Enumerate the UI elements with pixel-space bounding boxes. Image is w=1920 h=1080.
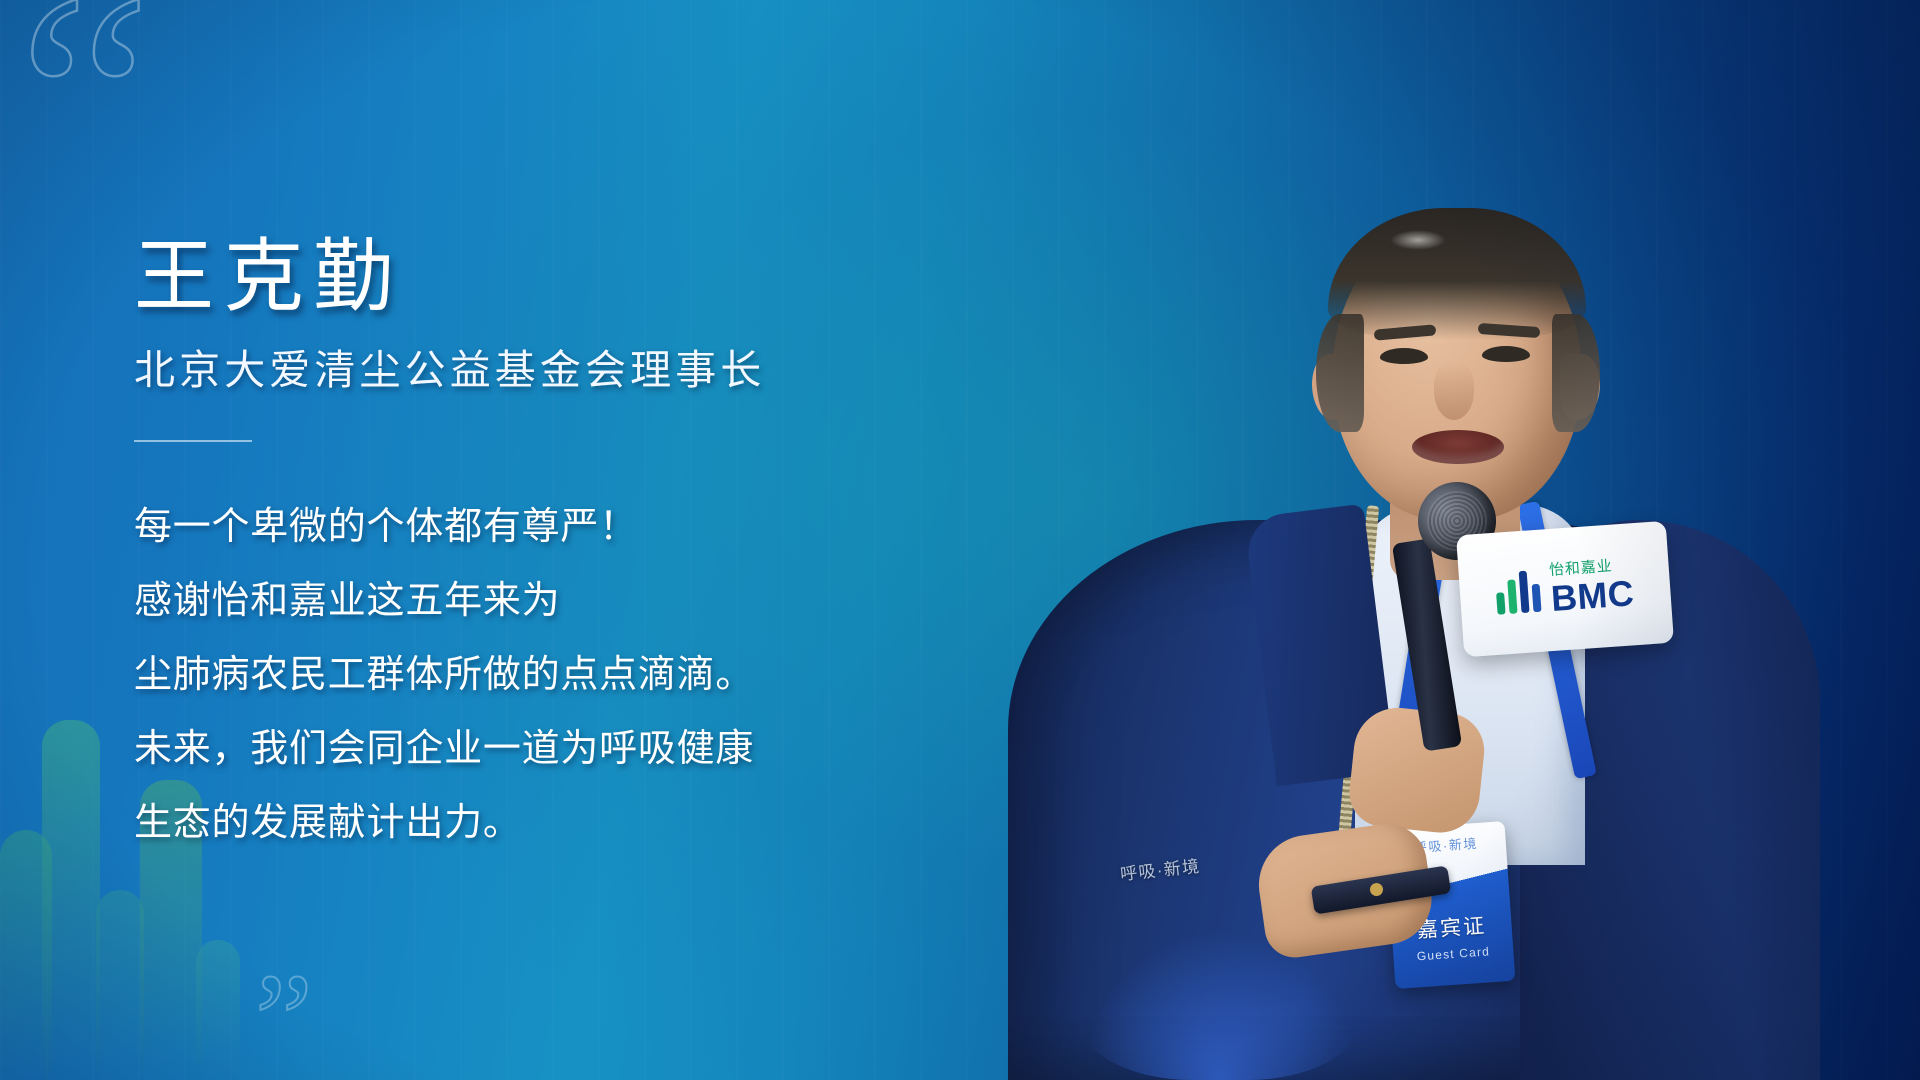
speaker-nose <box>1434 362 1474 420</box>
brand-name-en: BMC <box>1550 575 1635 617</box>
decorative-bar <box>42 720 100 1080</box>
quote-line: 生态的发展献计出力。 <box>134 804 994 842</box>
speaker-hand-mic <box>1346 704 1488 837</box>
bmc-logo-bar <box>1508 579 1518 613</box>
quote-line: 每一个卑微的个体都有尊严！ <box>134 508 994 546</box>
bmc-logo-text: 怡和嘉业 BMC <box>1549 557 1636 617</box>
badge-title-en: Guest Card <box>1416 944 1490 963</box>
speaker-hair <box>1328 208 1586 340</box>
bmc-logo-bar <box>1497 592 1507 615</box>
quote-line: 未来，我们会同企业一道为呼吸健康 <box>134 730 994 768</box>
forehead-highlight <box>1390 230 1446 250</box>
bmc-logo-bars-icon <box>1495 570 1542 615</box>
quote-open-icon: “ <box>18 0 151 248</box>
quote-line: 感谢怡和嘉业这五年来为 <box>134 582 994 620</box>
quote-text: 每一个卑微的个体都有尊严！感谢怡和嘉业这五年来为尘肺病农民工群体所做的点点滴滴。… <box>134 508 994 842</box>
speaker-mouth <box>1412 430 1504 464</box>
quote-line: 尘肺病农民工群体所做的点点滴滴。 <box>134 656 994 694</box>
quote-close-icon: ” <box>255 955 313 1080</box>
title-divider <box>134 440 252 442</box>
speaker-photo: 呼吸·新境 嘉宾证 Guest Card 呼吸·新境 <box>960 0 1920 1080</box>
speaker-eye-left <box>1380 348 1428 364</box>
speaker-eye-right <box>1482 346 1530 362</box>
decorative-bar <box>196 940 240 1080</box>
bmc-logo-bar <box>1519 571 1530 613</box>
quote-card-slide: 呼吸·新境 嘉宾证 Guest Card 呼吸·新境 <box>0 0 1920 1080</box>
speaker-text-block: 王克勤 北京大爱清尘公益基金会理事长 每一个卑微的个体都有尊严！感谢怡和嘉业这五… <box>134 232 994 842</box>
microphone-flag-logo: 怡和嘉业 BMC <box>1456 521 1674 657</box>
speaker-name: 王克勤 <box>134 232 994 322</box>
decorative-bar <box>96 890 144 1080</box>
speaker-title: 北京大爱清尘公益基金会理事长 <box>134 336 994 396</box>
speaker-hair-right <box>1552 314 1600 432</box>
bmc-logo-bar <box>1532 584 1542 612</box>
